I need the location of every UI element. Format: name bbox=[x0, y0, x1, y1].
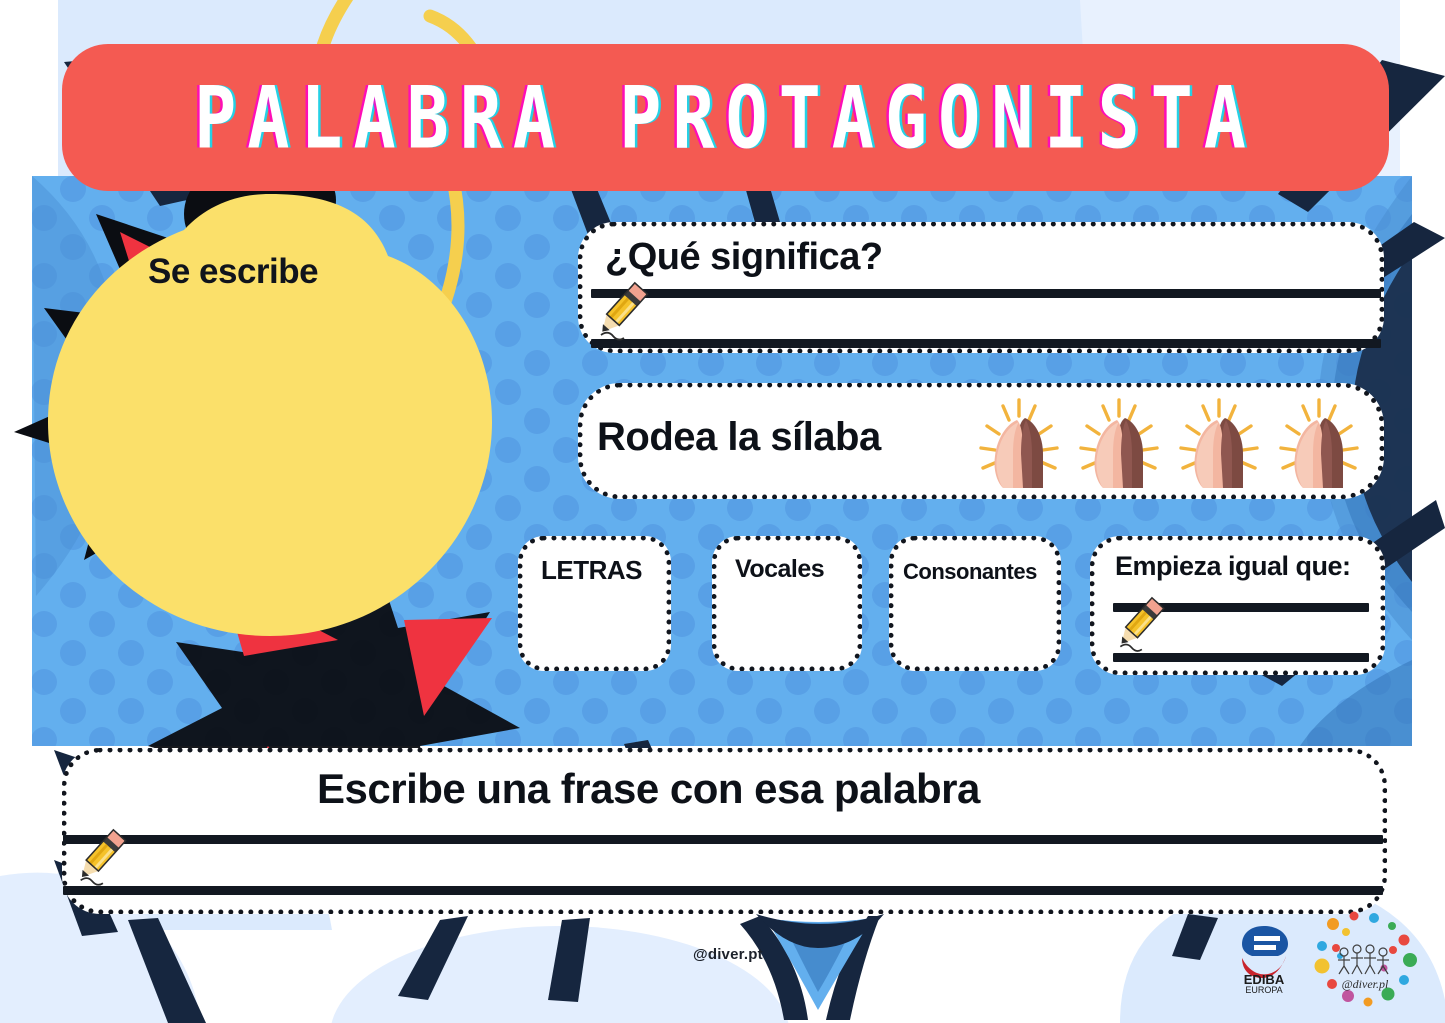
syllable-title: Rodea la sílaba bbox=[597, 415, 881, 460]
worksheet-page: PALABRA PROTAGONISTA Se escribe ¿Qué sig… bbox=[0, 0, 1445, 1023]
ediba-region: EUROPA bbox=[1245, 985, 1282, 994]
vowels-title: Vocales bbox=[735, 555, 824, 584]
diver-handle: @diver.pl bbox=[1342, 977, 1389, 991]
clap-icon-group bbox=[973, 396, 1365, 492]
consonants-title: Consonantes bbox=[903, 559, 1037, 585]
ediba-europa-logo: EDIBA EUROPA bbox=[1228, 920, 1300, 994]
writing-line bbox=[63, 835, 1383, 844]
pencil-icon bbox=[1111, 593, 1169, 661]
sentence-card: Escribe una frase con esa palabra bbox=[62, 748, 1387, 914]
page-title: PALABRA PROTAGONISTA bbox=[194, 75, 1257, 160]
pencil-icon bbox=[591, 279, 653, 349]
diver-logo: @diver.pl bbox=[1300, 908, 1430, 1020]
sentence-title: Escribe una frase con esa palabra bbox=[317, 765, 980, 813]
clapping-hands-icon bbox=[973, 396, 1065, 492]
letters-title: LETRAS bbox=[541, 555, 642, 586]
starts-like-card: Empieza igual que: bbox=[1090, 536, 1385, 675]
clapping-hands-icon bbox=[1073, 396, 1165, 492]
page-title-banner: PALABRA PROTAGONISTA bbox=[62, 44, 1389, 191]
syllable-card: Rodea la sílaba bbox=[578, 383, 1384, 499]
watermark-text: @diver.pt bbox=[693, 946, 763, 963]
meaning-card: ¿Qué significa? bbox=[578, 222, 1384, 353]
pencil-icon bbox=[71, 825, 131, 895]
clapping-hands-icon bbox=[1273, 396, 1365, 492]
writing-line bbox=[591, 289, 1381, 298]
letters-card: LETRAS bbox=[518, 536, 671, 671]
starts-like-title: Empieza igual que: bbox=[1115, 551, 1351, 582]
consonants-card: Consonantes bbox=[889, 536, 1061, 671]
writing-line bbox=[63, 886, 1383, 895]
meaning-title: ¿Qué significa? bbox=[605, 236, 883, 279]
vowels-card: Vocales bbox=[712, 536, 862, 671]
writing-line bbox=[591, 339, 1381, 348]
balloon-label: Se escribe bbox=[148, 252, 318, 292]
clapping-hands-icon bbox=[1173, 396, 1265, 492]
